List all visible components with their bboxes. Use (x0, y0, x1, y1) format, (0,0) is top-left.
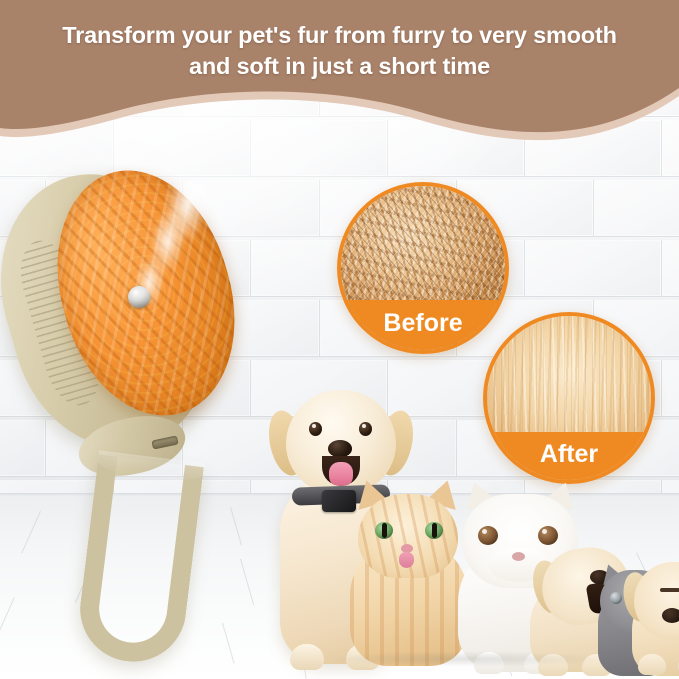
wall-tile (594, 60, 679, 117)
golden-retriever-puppy-paw (290, 644, 324, 670)
wall-tile (183, 60, 320, 117)
wall-tile (251, 120, 388, 177)
wall-tile (320, 60, 457, 117)
golden-retriever-puppy-eye (359, 422, 372, 436)
product-infographic: Before After (0, 0, 679, 679)
white-cat-eye (538, 526, 558, 545)
golden-retriever-puppy-nose (328, 440, 352, 457)
tile-row (0, 0, 679, 60)
white-cat-eye (478, 526, 498, 545)
wall-tile (662, 240, 679, 297)
wall-tile (114, 0, 251, 57)
wall-tile (251, 0, 388, 57)
cream-puppy-paw (538, 654, 568, 676)
pet-group-photo (262, 382, 679, 679)
wall-tile (525, 0, 662, 57)
tile-row (0, 60, 679, 120)
steam-grooming-brush (0, 160, 270, 679)
wall-tile (525, 120, 662, 177)
wall-tile (0, 60, 46, 117)
golden-retriever-puppy-tongue (329, 462, 353, 486)
wall-tile (525, 240, 662, 297)
brush-loop-handle (74, 454, 204, 667)
grey-kitten-eye (610, 592, 622, 604)
white-cat-paw (474, 652, 504, 674)
dog-collar-tag (322, 490, 356, 512)
wall-tile (388, 0, 525, 57)
white-cat-nose (512, 552, 525, 561)
wall-tile (662, 0, 679, 57)
wall-tile (46, 60, 183, 117)
ginger-kitten-eye (425, 522, 443, 539)
golden-puppy-right-eye (660, 588, 679, 592)
steam-nozzle-icon (128, 286, 150, 308)
wall-tile (388, 120, 525, 177)
golden-puppy-right-nose (662, 608, 679, 623)
ginger-kitten-eye (375, 522, 393, 539)
callout-before-label: Before (341, 300, 505, 350)
ginger-kitten-tongue (399, 552, 414, 568)
wall-tile (0, 0, 114, 57)
callout-before: Before (337, 182, 509, 354)
golden-puppy-right-paw (638, 654, 666, 675)
wall-tile (662, 120, 679, 177)
wall-tile (594, 180, 679, 237)
wall-tile (457, 60, 594, 117)
golden-retriever-puppy-eye (309, 422, 322, 436)
